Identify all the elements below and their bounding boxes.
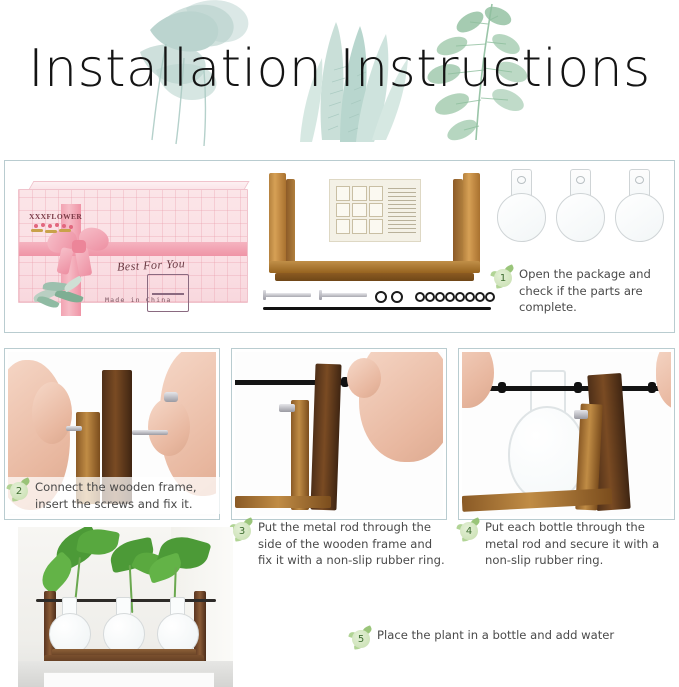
page-title: Installation Instructions <box>0 38 679 100</box>
step-3-photo <box>235 352 443 516</box>
rubber-ring-small-6 <box>465 292 475 302</box>
step-2-number: 2 <box>8 480 30 502</box>
step-3-caption: 3 Put the metal rod through the side of … <box>231 519 447 569</box>
book-under-stand <box>44 672 214 687</box>
step-5-caption: 5 Place the plant in a bottle and add wa… <box>350 627 650 650</box>
hardware-parts-row <box>263 285 493 311</box>
step-5-badge: 5 <box>350 628 372 650</box>
glass-bottle-3 <box>615 169 662 261</box>
rubber-ring-mid <box>574 382 582 393</box>
instruction-card-text-lines <box>388 188 416 234</box>
rubber-ring-right <box>648 382 656 393</box>
frame-base-shadow <box>275 273 474 281</box>
screw-1 <box>265 293 311 297</box>
frame-post-right <box>463 173 480 269</box>
step-3-badge: 3 <box>231 520 253 542</box>
rubber-ring-left <box>498 382 506 393</box>
step-2-caption: 2 Connect the wooden frame, insert the s… <box>8 477 220 514</box>
screw-visible <box>574 410 588 419</box>
left-hand-holding-rod <box>462 352 494 408</box>
package-tagline: Best For You <box>117 256 186 275</box>
frame-post-back <box>291 400 309 510</box>
rubber-ring-small-2 <box>425 292 435 302</box>
step-4-number: 4 <box>458 520 480 542</box>
bottle-hole-icon <box>635 176 644 184</box>
frame-post-left-inner <box>286 179 295 269</box>
frame-post-right-inner <box>453 179 463 269</box>
glass-bottle-1 <box>497 169 544 261</box>
finger-tip <box>347 358 381 398</box>
product-illustration <box>147 274 189 312</box>
screw-inserted-left <box>66 426 82 431</box>
step-5-text: Place the plant in a bottle and add wate… <box>377 627 614 644</box>
glass-bottles-group <box>497 169 662 265</box>
step-4-badge: 4 <box>458 520 480 542</box>
step-1-number: 1 <box>492 267 514 289</box>
box-front-face: XXXFLOWER Best For You Made in China <box>18 189 248 303</box>
page-header: Installation Instructions <box>0 0 679 152</box>
step-3-number: 3 <box>231 520 253 542</box>
screw-in-hand <box>132 430 168 435</box>
bottle-hole-icon <box>576 176 585 184</box>
right-thumb <box>148 398 190 456</box>
rubber-ring-large-1 <box>375 291 387 303</box>
screw-visible <box>279 404 295 412</box>
bottle-hole-icon <box>517 176 526 184</box>
rubber-ring-small-4 <box>445 292 455 302</box>
frame-base <box>269 261 480 273</box>
finished-product-photo <box>18 527 233 687</box>
step-2-badge: 2 <box>8 480 30 502</box>
step-4-text: Put each bottle through the metal rod an… <box>485 519 676 569</box>
step-1-caption: 1 Open the package and check if the part… <box>492 266 672 316</box>
glass-bottle-2 <box>556 169 603 261</box>
metal-rod-assembled <box>462 386 671 391</box>
screw-2 <box>321 293 367 297</box>
instruction-card <box>329 179 421 242</box>
step-3-text: Put the metal rod through the side of th… <box>258 519 447 569</box>
rubber-ring-small-5 <box>455 292 465 302</box>
gift-box-photo: XXXFLOWER Best For You Made in China <box>18 175 246 306</box>
rubber-ring-small-1 <box>415 292 425 302</box>
wooden-frame-parts <box>263 171 493 286</box>
step-1-text: Open the package and check if the parts … <box>519 266 672 316</box>
left-thumb <box>32 382 72 444</box>
right-hand-holding-rod <box>656 352 671 410</box>
succulent-illustration <box>33 276 95 312</box>
rubber-ring-small-3 <box>435 292 445 302</box>
step-2-text: Connect the wooden frame, insert the scr… <box>35 479 220 512</box>
brand-flower-ornament <box>31 223 81 235</box>
rubber-ring-small-7 <box>475 292 485 302</box>
frame-post-left <box>269 173 286 269</box>
frame-base-visible <box>235 496 331 508</box>
rubber-ring-large-2 <box>391 291 403 303</box>
package-brand-label: XXXFLOWER <box>29 212 82 221</box>
frame-post-front <box>310 364 341 511</box>
screw-head <box>164 392 178 402</box>
step-4-caption: 4 Put each bottle through the metal rod … <box>458 519 676 569</box>
step-4-photo <box>462 352 671 516</box>
step-4-panel <box>458 348 675 520</box>
metal-rod <box>263 307 491 310</box>
step-1-badge: 1 <box>492 267 514 289</box>
step-5-number: 5 <box>350 628 372 650</box>
step-3-panel <box>231 348 447 520</box>
instruction-card-pictograms <box>336 186 383 234</box>
